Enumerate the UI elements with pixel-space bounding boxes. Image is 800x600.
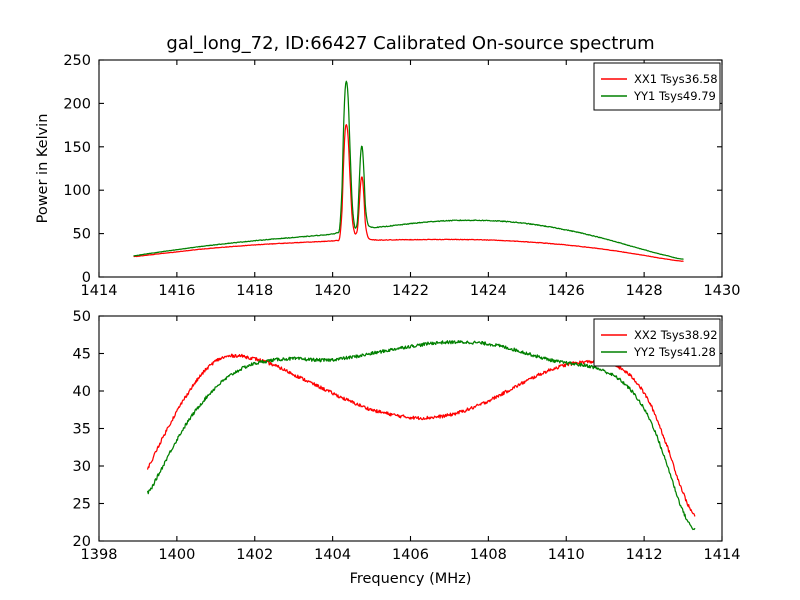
- x-tick-label: 1408: [470, 547, 507, 563]
- x-tick-label: 1416: [158, 283, 195, 299]
- x-tick-label: 1422: [392, 283, 429, 299]
- y-tick-label: 50: [73, 227, 91, 243]
- y-tick-label: 35: [73, 422, 91, 438]
- y-tick-label: 0: [82, 270, 91, 286]
- series-group: [148, 341, 695, 530]
- legend-label: YY2 Tsys41.28: [633, 345, 716, 359]
- x-tick-label: 1412: [626, 547, 663, 563]
- x-tick-label: 1406: [392, 547, 429, 563]
- x-tick-label: 1428: [626, 283, 663, 299]
- x-tick-label: 1420: [314, 283, 351, 299]
- y-tick-label: 30: [73, 459, 91, 475]
- x-tick-label: 1400: [158, 547, 195, 563]
- spectrum-figure: 1414141614181420142214241426142814300501…: [0, 0, 800, 600]
- legend-label: XX2 Tsys38.92: [634, 328, 718, 342]
- y-tick-label: 150: [63, 140, 91, 156]
- y-tick-label: 45: [73, 347, 91, 363]
- x-axis-label: Frequency (MHz): [350, 571, 472, 587]
- series-line-xx2: [148, 354, 695, 516]
- x-tick-label: 1430: [704, 283, 741, 299]
- x-tick-label: 1426: [548, 283, 585, 299]
- y-tick-label: 200: [63, 96, 91, 112]
- panel-bottom: 1398140014021404140614081410141214142025…: [73, 309, 741, 587]
- figure-title: gal_long_72, ID:66427 Calibrated On-sour…: [166, 33, 654, 54]
- y-axis-label: Power in Kelvin: [35, 114, 51, 224]
- legend-label: XX1 Tsys36.58: [634, 72, 718, 86]
- legend-top: XX1 Tsys36.58YY1 Tsys49.79: [594, 63, 720, 110]
- x-tick-label: 1404: [314, 547, 351, 563]
- x-tick-label: 1402: [236, 547, 273, 563]
- x-tick-label: 1410: [548, 547, 585, 563]
- series-line-xx1: [134, 125, 683, 262]
- series-line-yy2: [148, 341, 695, 530]
- legend-label: YY1 Tsys49.79: [633, 89, 716, 103]
- y-tick-label: 250: [63, 53, 91, 69]
- y-tick-label: 50: [73, 309, 91, 325]
- legend-bottom: XX2 Tsys38.92YY2 Tsys41.28: [594, 319, 720, 366]
- y-tick-label: 25: [73, 497, 91, 513]
- plot-canvas: 1414141614181420142214241426142814300501…: [0, 0, 800, 600]
- y-tick-label: 40: [73, 384, 91, 400]
- y-tick-label: 20: [73, 534, 91, 550]
- panel-top: 1414141614181420142214241426142814300501…: [35, 33, 740, 299]
- x-tick-label: 1424: [470, 283, 507, 299]
- x-tick-label: 1414: [704, 547, 741, 563]
- x-tick-label: 1418: [236, 283, 273, 299]
- y-tick-label: 100: [63, 183, 91, 199]
